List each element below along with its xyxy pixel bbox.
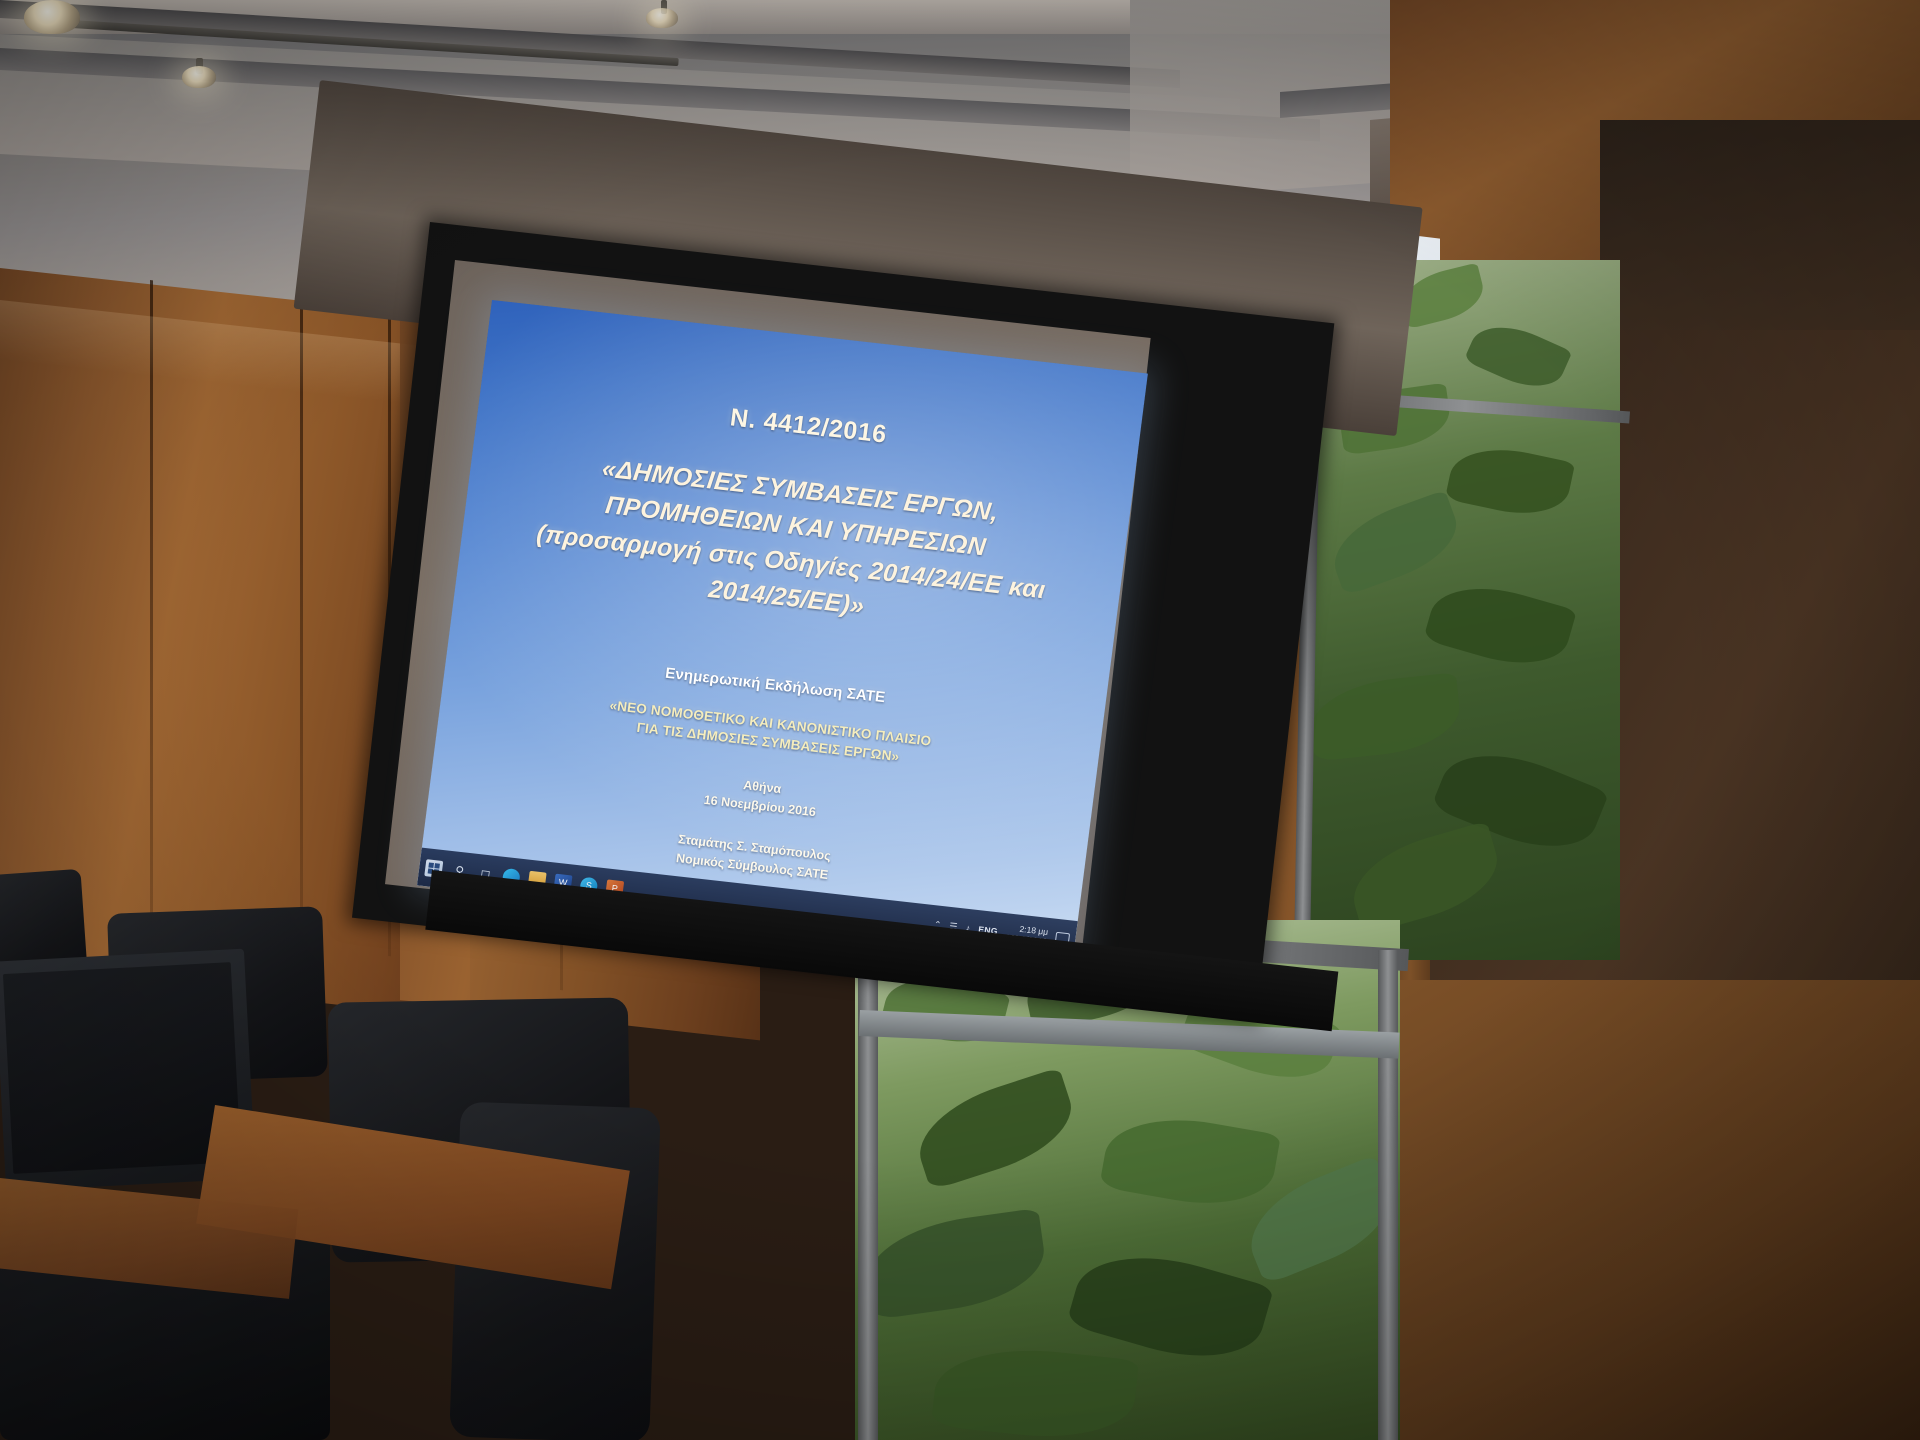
foliage — [1099, 1106, 1281, 1216]
window-frame-right — [1378, 950, 1398, 1440]
foliage — [1323, 490, 1468, 596]
wall-wood-lower-right — [1380, 980, 1920, 1440]
presentation-slide: Ν. 4412/2016 «ΔΗΜΟΣΙΕΣ ΣΥΜΒΑΣΕΙΣ ΕΡΓΩΝ, … — [417, 300, 1148, 959]
foliage — [1310, 672, 1463, 761]
ceiling-spotlight — [24, 0, 80, 34]
foliage — [907, 1067, 1083, 1191]
wall-seam — [300, 296, 303, 956]
foliage — [1342, 821, 1507, 935]
foliage — [1423, 572, 1577, 678]
monitor-screen — [3, 962, 241, 1174]
room-photo: Ν. 4412/2016 «ΔΗΜΟΣΙΕΣ ΣΥΜΒΑΣΕΙΣ ΕΡΓΩΝ, … — [0, 0, 1920, 1440]
foliage — [931, 1340, 1139, 1440]
wall-seam — [150, 280, 153, 960]
ceiling-spotlight — [182, 66, 216, 88]
foliage — [860, 1208, 1050, 1320]
foliage — [1066, 1236, 1274, 1377]
foliage — [1464, 313, 1573, 400]
window-frame-left — [858, 920, 878, 1440]
foliage — [1445, 438, 1575, 524]
projected-slide: Ν. 4412/2016 «ΔΗΜΟΣΙΕΣ ΣΥΜΒΑΣΕΙΣ ΕΡΓΩΝ, … — [417, 300, 1148, 959]
ceiling-spotlight — [646, 8, 678, 28]
